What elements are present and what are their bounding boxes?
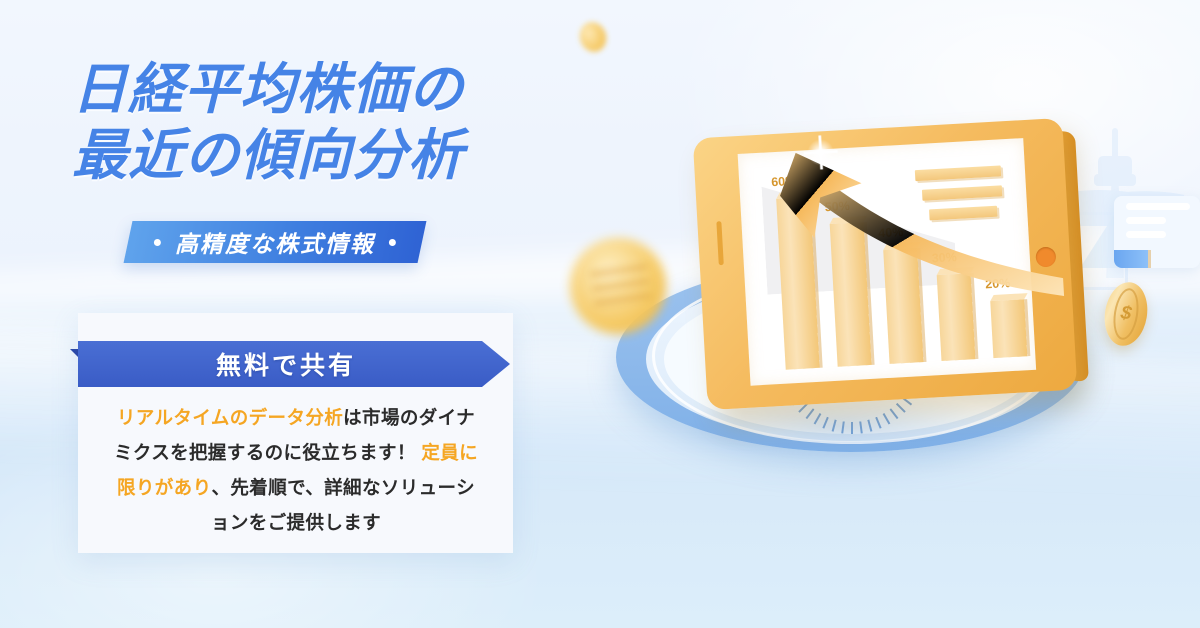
headline-line-2: 最近の傾向分析 — [72, 122, 632, 188]
status-badge: 高精度な株式情報 — [124, 221, 427, 263]
illustration: 60%50%40%30%20% — [560, 0, 1200, 628]
coin-right-icon: $ — [1100, 279, 1151, 349]
bullet-dot-icon-right — [389, 239, 396, 246]
badge-label: 高精度な株式情報 — [175, 225, 375, 259]
coin-top-icon — [576, 19, 610, 56]
promo-banner: 日経平均株価の 最近の傾向分析 高精度な株式情報 無料で共有 リアルタイムのデー… — [0, 0, 1200, 628]
page-title: 日経平均株価の 最近の傾向分析 — [72, 56, 632, 188]
coin-currency-symbol: $ — [1110, 286, 1142, 341]
tablet-device: 60%50%40%30%20% — [693, 118, 1078, 410]
card-description: リアルタイムのデータ分析は市場のダイナミクスを把握するのに役立ちます！ 定員に限… — [108, 400, 484, 540]
card-highlight-1: リアルタイムのデータ分析 — [117, 407, 343, 428]
tablet-screen: 60%50%40%30%20% — [738, 138, 1037, 386]
bullet-dot-icon-left — [154, 239, 161, 246]
growth-arrow-icon — [755, 127, 1096, 345]
headline-line-1: 日経平均株価の — [72, 58, 464, 120]
sparkle-icon — [803, 134, 839, 170]
card-text-2: 、先着順で、詳細なソリューションをご提供します — [211, 477, 475, 533]
